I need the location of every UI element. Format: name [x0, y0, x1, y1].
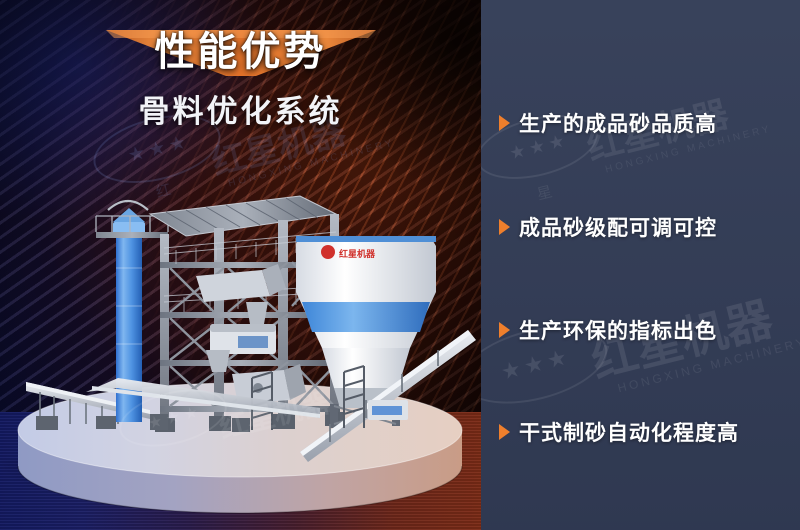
feature-item-3[interactable]: 生产环保的指标出色: [499, 315, 799, 345]
page-title: 性能优势: [0, 24, 481, 80]
title-chevron-wrap: 性能优势: [0, 24, 481, 80]
triangle-bullet-icon: [499, 322, 510, 338]
title-block: 性能优势 骨料优化系统: [0, 24, 481, 131]
triangle-bullet-icon: [499, 424, 510, 440]
feature-label: 生产的成品砂品质高: [519, 108, 717, 138]
feature-label: 干式制砂自动化程度高: [519, 417, 739, 447]
feature-label: 生产环保的指标出色: [519, 315, 717, 345]
feature-label: 成品砂级配可调可控: [519, 212, 717, 242]
hero-visual-panel: ★ ★ ★ 红星机器 HONGXING MACHINERY 红: [0, 0, 481, 530]
page-subtitle: 骨料优化系统: [0, 86, 481, 131]
base-machine-unit: [368, 400, 408, 420]
feature-item-2[interactable]: 成品砂级配可调可控: [499, 212, 799, 242]
feature-item-4[interactable]: 干式制砂自动化程度高: [499, 417, 799, 447]
feature-list: 生产的成品砂品质高 成品砂级配可调可控 生产环保的指标出色 干式制砂自动化程度高: [481, 0, 800, 530]
promo-banner: ★ ★ ★ 红星机器 HONGXING MACHINERY 红: [0, 0, 800, 530]
triangle-bullet-icon: [499, 219, 510, 235]
svg-text:红星机器: 红星机器: [339, 248, 376, 260]
triangle-bullet-icon: [499, 115, 510, 131]
feature-panel: ★ ★ ★ 红星机器 HONGXING MACHINERY 星 ★ ★ ★ 红星…: [481, 0, 800, 530]
feature-item-1[interactable]: 生产的成品砂品质高: [499, 108, 799, 138]
